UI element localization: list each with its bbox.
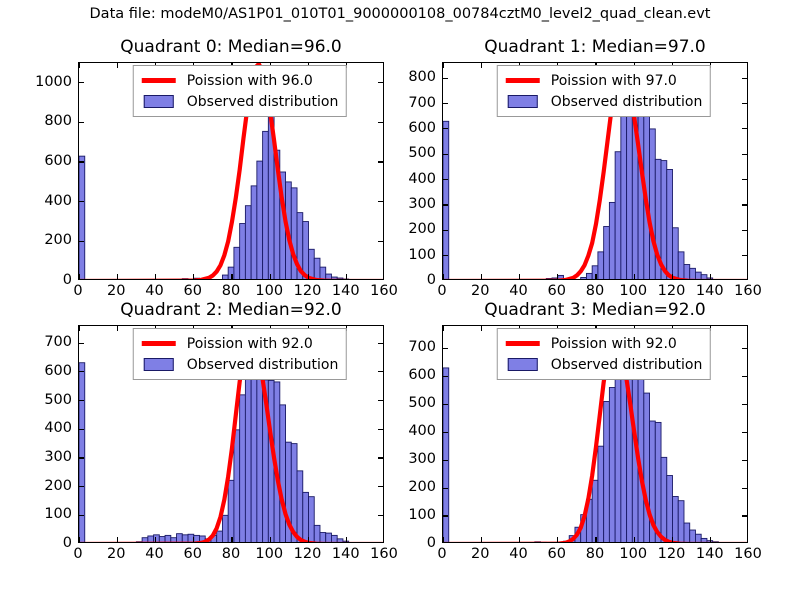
histogram-bar — [558, 275, 564, 280]
y-tick-label: 400 — [44, 193, 72, 209]
histogram-bar — [234, 430, 240, 543]
y-tick-label: 300 — [408, 451, 436, 467]
legend-line-swatch — [140, 341, 178, 346]
histogram-bar — [690, 530, 696, 543]
y-tick-label: 500 — [44, 392, 72, 408]
y-tick-label: 200 — [44, 232, 72, 248]
histogram-series-quadrant-0 — [79, 107, 377, 280]
x-tick-label: 140 — [696, 283, 724, 299]
x-tick-mark-top — [481, 63, 482, 68]
y-tick-mark-right — [378, 343, 383, 344]
y-tick-mark-right — [742, 404, 747, 405]
histogram-bar — [644, 393, 650, 543]
x-tick-mark — [481, 274, 482, 279]
x-tick-label: 0 — [437, 283, 446, 299]
y-tick-mark-right — [742, 103, 747, 104]
y-tick-mark — [443, 204, 448, 205]
y-tick-mark — [443, 78, 448, 79]
y-tick-mark-right — [742, 255, 747, 256]
legend-quadrant-3[interactable]: Poission with 92.0Observed distribution — [497, 328, 711, 380]
y-tick-label: 0 — [63, 535, 72, 551]
subplot-quadrant-2: Quadrant 2: Median=92.0 0100200300400500… — [78, 325, 384, 543]
x-tick-mark-top — [442, 63, 443, 68]
x-tick-mark — [519, 537, 520, 542]
y-tick-label: 500 — [408, 395, 436, 411]
histogram-bar — [337, 278, 343, 280]
legend-item: Observed distribution — [140, 354, 339, 375]
x-tick-label: 160 — [370, 546, 398, 562]
y-tick-label: 200 — [408, 479, 436, 495]
y-tick-mark — [79, 400, 84, 401]
histogram-bar — [326, 274, 332, 280]
x-tick-label: 160 — [734, 283, 762, 299]
y-tick-label: 700 — [408, 339, 436, 355]
histogram-bar — [331, 277, 337, 280]
histogram-bar — [695, 272, 701, 280]
x-tick-mark — [519, 274, 520, 279]
y-tick-label: 700 — [408, 95, 436, 111]
histogram-bar — [320, 533, 326, 543]
histogram-bar — [558, 542, 564, 543]
y-tick-mark-right — [742, 432, 747, 433]
line-swatch-icon — [506, 78, 540, 83]
y-tick-mark — [79, 486, 84, 487]
subplot-title-quadrant-0: Quadrant 0: Median=96.0 — [78, 37, 384, 57]
x-tick-mark-top — [78, 326, 79, 331]
x-tick-mark — [193, 274, 194, 279]
histogram-bar — [240, 224, 246, 280]
x-tick-mark — [155, 274, 156, 279]
legend-patch-swatch — [504, 95, 542, 108]
y-tick-label: 600 — [44, 363, 72, 379]
legend-item-label: Observed distribution — [187, 94, 339, 110]
x-tick-label: 0 — [73, 283, 82, 299]
x-tick-mark — [308, 537, 309, 542]
histogram-bar — [245, 206, 251, 280]
y-tick-mark — [79, 122, 84, 123]
y-tick-mark-right — [378, 457, 383, 458]
x-tick-label: 80 — [222, 283, 240, 299]
x-tick-label: 120 — [658, 546, 686, 562]
x-tick-mark — [155, 537, 156, 542]
y-tick-mark-right — [378, 515, 383, 516]
y-tick-label: 600 — [408, 367, 436, 383]
y-tick-mark — [443, 515, 448, 516]
y-tick-mark-right — [378, 429, 383, 430]
legend-item-label: Poission with 97.0 — [551, 73, 677, 89]
histogram-bar — [309, 249, 315, 280]
x-tick-mark — [672, 274, 673, 279]
x-tick-label: 20 — [107, 546, 125, 562]
legend-line-swatch — [504, 341, 542, 346]
patch-swatch-icon — [508, 358, 538, 371]
histogram-bar — [667, 169, 673, 280]
histogram-bar — [263, 131, 269, 280]
legend-item-label: Poission with 92.0 — [187, 336, 313, 352]
x-tick-mark — [634, 537, 635, 542]
y-tick-mark — [443, 460, 448, 461]
subplot-quadrant-1: Quadrant 1: Median=97.0 0100200300400500… — [442, 62, 748, 280]
y-tick-label: 300 — [408, 196, 436, 212]
y-tick-mark — [443, 404, 448, 405]
legend-quadrant-2[interactable]: Poission with 92.0Observed distribution — [133, 328, 347, 380]
x-tick-label: 140 — [696, 546, 724, 562]
x-tick-mark — [78, 274, 79, 279]
x-tick-label: 80 — [586, 546, 604, 562]
legend-item-label: Poission with 96.0 — [187, 73, 313, 89]
histogram-bar — [217, 531, 223, 543]
histogram-bar — [303, 492, 309, 543]
y-tick-label: 400 — [408, 171, 436, 187]
histogram-bar — [598, 446, 604, 543]
histogram-bar — [251, 186, 257, 280]
x-tick-mark — [595, 274, 596, 279]
y-tick-mark — [443, 488, 448, 489]
legend-line-swatch — [140, 78, 178, 83]
x-tick-mark — [270, 537, 271, 542]
x-tick-label: 120 — [294, 546, 322, 562]
legend-item-label: Observed distribution — [551, 94, 703, 110]
x-tick-mark — [270, 274, 271, 279]
x-tick-mark-top — [481, 326, 482, 331]
patch-swatch-icon — [144, 95, 174, 108]
histogram-bar — [309, 497, 315, 543]
x-tick-label: 40 — [509, 546, 527, 562]
histogram-bar — [678, 252, 684, 280]
patch-swatch-icon — [144, 358, 174, 371]
y-tick-label: 800 — [44, 113, 72, 129]
x-tick-mark — [78, 537, 79, 542]
y-tick-mark-right — [742, 488, 747, 489]
histogram-bar — [142, 538, 148, 543]
histogram-bar — [701, 275, 707, 280]
legend-quadrant-0[interactable]: Poission with 96.0Observed distribution — [133, 65, 347, 117]
x-tick-mark — [308, 274, 309, 279]
x-tick-mark — [231, 537, 232, 542]
x-tick-label: 0 — [73, 546, 82, 562]
x-tick-mark — [557, 537, 558, 542]
x-tick-label: 100 — [255, 546, 283, 562]
histogram-bar — [667, 476, 673, 543]
histogram-bar — [222, 275, 228, 280]
histogram-bar — [684, 523, 690, 543]
legend-item: Poission with 96.0 — [140, 70, 339, 91]
subplot-quadrant-3: Quadrant 3: Median=92.0 0100200300400500… — [442, 325, 748, 543]
histogram-bar — [684, 265, 690, 280]
y-tick-mark — [79, 201, 84, 202]
x-tick-label: 60 — [548, 546, 566, 562]
y-tick-mark-right — [742, 154, 747, 155]
x-tick-label: 120 — [294, 283, 322, 299]
subplot-quadrant-0: Quadrant 0: Median=96.0 0200400600800100… — [78, 62, 384, 280]
x-tick-label: 100 — [255, 283, 283, 299]
x-tick-label: 100 — [619, 546, 647, 562]
x-tick-mark — [117, 537, 118, 542]
x-tick-label: 60 — [184, 283, 202, 299]
histogram-bar — [541, 542, 547, 543]
y-tick-label: 0 — [63, 272, 72, 288]
x-tick-label: 120 — [658, 283, 686, 299]
y-tick-mark-right — [742, 78, 747, 79]
histogram-bar — [592, 480, 598, 543]
y-tick-mark — [79, 161, 84, 162]
y-tick-label: 400 — [408, 423, 436, 439]
x-tick-label: 60 — [184, 546, 202, 562]
histogram-bar — [314, 525, 320, 543]
y-tick-mark — [79, 241, 84, 242]
x-tick-label: 40 — [509, 283, 527, 299]
y-tick-mark-right — [742, 348, 747, 349]
y-tick-label: 600 — [408, 120, 436, 136]
y-tick-mark-right — [742, 128, 747, 129]
y-tick-mark-right — [378, 82, 383, 83]
legend-patch-swatch — [140, 358, 178, 371]
y-tick-mark-right — [378, 241, 383, 242]
histogram-bar — [177, 534, 183, 543]
histogram-bar — [598, 252, 604, 280]
histogram-bar — [159, 537, 165, 543]
histogram-bar — [331, 535, 337, 543]
x-tick-mark — [346, 274, 347, 279]
matplotlib-figure: Data file: modeM0/AS1P01_010T01_90000001… — [0, 0, 800, 600]
y-tick-label: 1000 — [35, 74, 72, 90]
y-tick-label: 0 — [427, 272, 436, 288]
y-tick-mark-right — [742, 204, 747, 205]
histogram-bar — [314, 258, 320, 280]
legend-item: Observed distribution — [504, 91, 703, 112]
x-tick-mark — [595, 537, 596, 542]
x-tick-mark — [117, 274, 118, 279]
x-tick-label: 20 — [471, 546, 489, 562]
histogram-bar — [320, 267, 326, 280]
histogram-bar — [655, 422, 661, 543]
x-tick-label: 100 — [619, 283, 647, 299]
legend-item-label: Poission with 92.0 — [551, 336, 677, 352]
y-tick-mark — [79, 429, 84, 430]
histogram-bar — [713, 279, 719, 280]
histogram-bar — [604, 227, 610, 281]
histogram-bar — [604, 401, 610, 543]
y-tick-mark — [79, 82, 84, 83]
legend-item: Poission with 92.0 — [504, 333, 703, 354]
x-tick-mark — [710, 537, 711, 542]
histogram-bar — [609, 202, 615, 280]
y-tick-mark-right — [378, 400, 383, 401]
histogram-bar — [586, 273, 592, 280]
y-tick-mark-right — [742, 376, 747, 377]
histogram-bar — [79, 156, 85, 280]
x-tick-label: 0 — [437, 546, 446, 562]
x-tick-mark — [481, 537, 482, 542]
histogram-bar — [701, 538, 707, 543]
x-tick-label: 160 — [734, 546, 762, 562]
y-tick-label: 100 — [408, 507, 436, 523]
histogram-bar — [280, 405, 286, 543]
histogram-bar — [326, 533, 332, 543]
x-tick-mark — [442, 274, 443, 279]
y-tick-mark — [443, 179, 448, 180]
x-tick-mark — [634, 274, 635, 279]
y-tick-mark-right — [742, 230, 747, 231]
y-tick-label: 200 — [408, 221, 436, 237]
y-tick-mark-right — [742, 179, 747, 180]
histogram-bar — [337, 539, 343, 543]
y-tick-mark — [443, 255, 448, 256]
legend-quadrant-1[interactable]: Poission with 97.0Observed distribution — [497, 65, 711, 117]
x-tick-mark-top — [442, 326, 443, 331]
x-tick-mark-top — [117, 63, 118, 68]
figure-suptitle: Data file: modeM0/AS1P01_010T01_90000001… — [0, 6, 800, 22]
x-tick-label: 80 — [222, 546, 240, 562]
y-tick-label: 200 — [44, 478, 72, 494]
y-tick-label: 600 — [44, 153, 72, 169]
x-tick-mark — [672, 537, 673, 542]
y-tick-mark — [443, 103, 448, 104]
legend-item: Poission with 92.0 — [140, 333, 339, 354]
histogram-bar — [79, 363, 85, 543]
histogram-bar — [621, 109, 627, 280]
legend-item-label: Observed distribution — [551, 357, 703, 373]
histogram-bar — [615, 355, 621, 543]
subplot-title-quadrant-1: Quadrant 1: Median=97.0 — [442, 37, 748, 57]
histogram-bar — [581, 277, 587, 280]
y-tick-mark — [79, 343, 84, 344]
y-tick-mark-right — [742, 460, 747, 461]
x-tick-mark — [193, 537, 194, 542]
y-tick-label: 700 — [44, 334, 72, 350]
y-tick-mark — [79, 515, 84, 516]
y-tick-mark — [443, 154, 448, 155]
y-tick-mark — [443, 376, 448, 377]
legend-item: Observed distribution — [504, 354, 703, 375]
line-swatch-icon — [142, 78, 176, 83]
y-tick-label: 100 — [44, 506, 72, 522]
x-tick-label: 140 — [332, 546, 360, 562]
subplot-title-quadrant-3: Quadrant 3: Median=92.0 — [442, 300, 748, 320]
x-tick-label: 60 — [548, 283, 566, 299]
x-tick-mark — [557, 274, 558, 279]
histogram-bar — [443, 368, 449, 543]
x-tick-mark — [346, 537, 347, 542]
y-tick-mark-right — [742, 515, 747, 516]
legend-item: Poission with 97.0 — [504, 70, 703, 91]
y-tick-label: 800 — [408, 69, 436, 85]
y-tick-mark — [443, 128, 448, 129]
x-tick-mark — [442, 537, 443, 542]
histogram-bar — [673, 228, 679, 280]
histogram-bar — [690, 268, 696, 280]
x-tick-mark — [231, 274, 232, 279]
y-tick-label: 500 — [408, 145, 436, 161]
y-tick-mark — [79, 371, 84, 372]
y-tick-mark-right — [378, 201, 383, 202]
line-swatch-icon — [142, 341, 176, 346]
histogram-bar — [343, 279, 349, 280]
x-tick-label: 160 — [370, 283, 398, 299]
x-tick-mark-top — [78, 63, 79, 68]
y-tick-mark-right — [378, 161, 383, 162]
legend-item: Observed distribution — [140, 91, 339, 112]
x-tick-label: 140 — [332, 283, 360, 299]
histogram-bar — [234, 247, 240, 280]
histogram-bar — [222, 515, 228, 543]
histogram-bar — [609, 387, 615, 543]
legend-patch-swatch — [140, 95, 178, 108]
x-tick-label: 80 — [586, 283, 604, 299]
x-tick-mark-top — [117, 326, 118, 331]
x-tick-mark — [710, 274, 711, 279]
histogram-bar — [240, 395, 246, 543]
y-tick-label: 300 — [44, 449, 72, 465]
y-tick-mark-right — [378, 371, 383, 372]
x-tick-label: 40 — [145, 283, 163, 299]
y-tick-label: 400 — [44, 420, 72, 436]
y-tick-label: 100 — [408, 247, 436, 263]
patch-swatch-icon — [508, 95, 538, 108]
y-tick-mark — [443, 230, 448, 231]
histogram-bar — [257, 161, 263, 280]
legend-patch-swatch — [504, 358, 542, 371]
legend-item-label: Observed distribution — [187, 357, 339, 373]
y-tick-mark-right — [378, 486, 383, 487]
histogram-bar — [228, 480, 234, 543]
subplot-title-quadrant-2: Quadrant 2: Median=92.0 — [78, 300, 384, 320]
histogram-bar — [678, 501, 684, 543]
histogram-bar — [661, 457, 667, 543]
legend-line-swatch — [504, 78, 542, 83]
y-tick-label: 0 — [427, 535, 436, 551]
y-tick-mark-right — [378, 122, 383, 123]
y-tick-mark — [443, 432, 448, 433]
y-tick-mark — [79, 457, 84, 458]
histogram-bar — [297, 471, 303, 543]
histogram-bar — [615, 152, 621, 280]
histogram-bar — [695, 534, 701, 543]
histogram-bar — [650, 129, 656, 280]
y-tick-mark — [443, 348, 448, 349]
histogram-bar — [673, 496, 679, 543]
histogram-bar — [171, 538, 177, 543]
x-tick-label: 20 — [107, 283, 125, 299]
histogram-bar — [245, 378, 251, 543]
line-swatch-icon — [506, 341, 540, 346]
x-tick-label: 40 — [145, 546, 163, 562]
x-tick-label: 20 — [471, 283, 489, 299]
